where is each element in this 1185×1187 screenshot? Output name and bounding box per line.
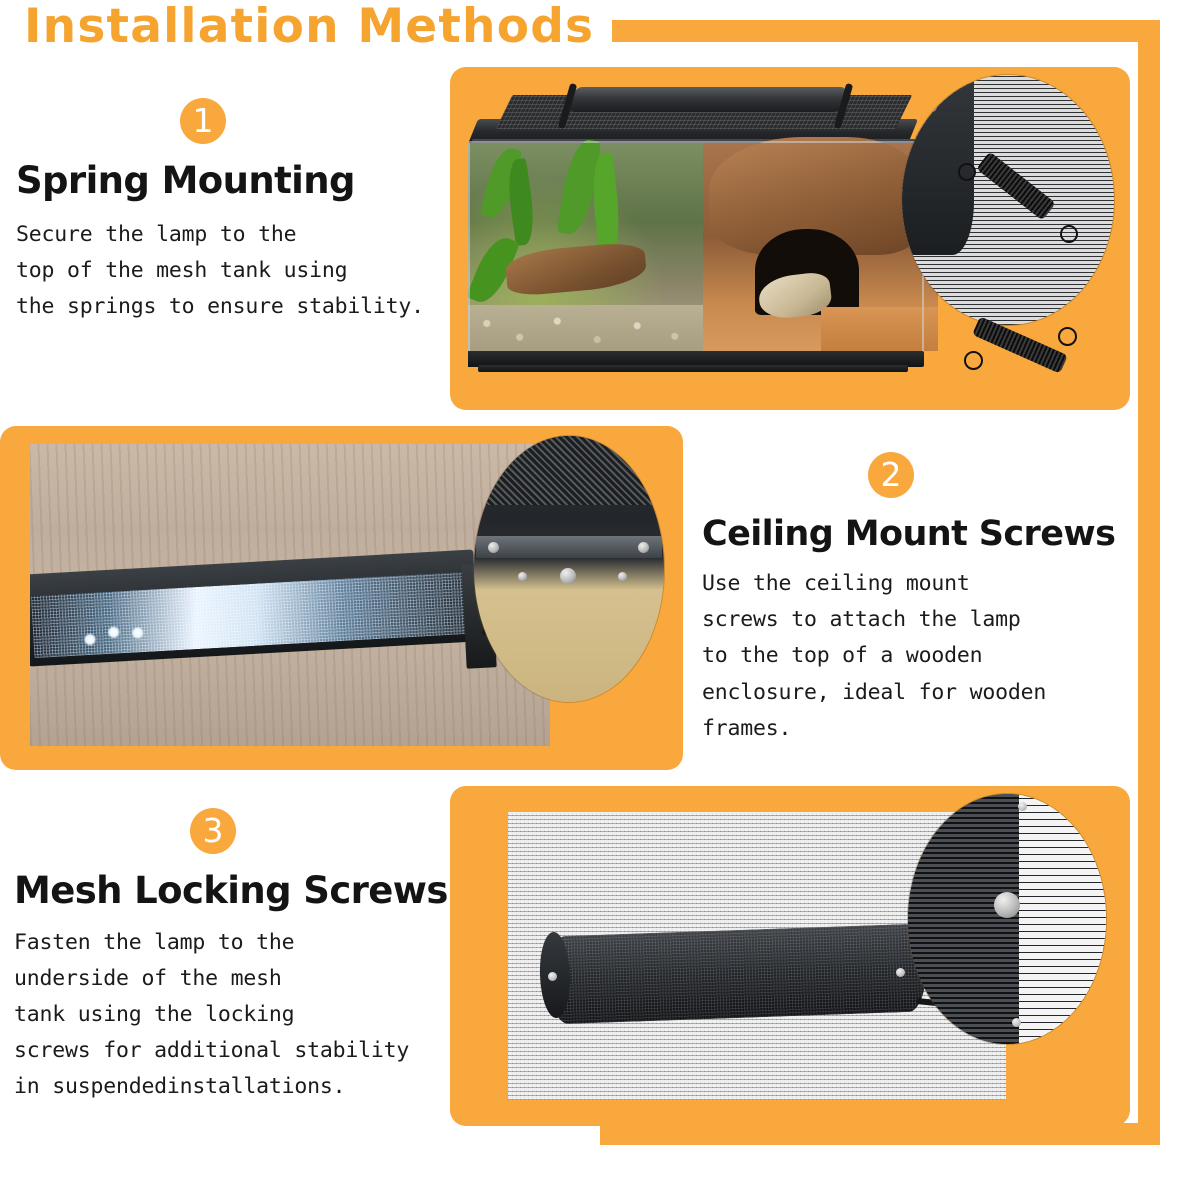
spring-body <box>972 316 1068 373</box>
frame-border-top <box>612 20 1160 42</box>
callout-rivet-top <box>1018 802 1027 811</box>
step-2-body-line: frames. <box>702 711 1140 747</box>
step-1-heading: Spring Mounting <box>16 160 452 203</box>
spring-hook-lower <box>1060 225 1078 243</box>
step-3-body-line: tank using the locking <box>14 997 460 1033</box>
mesh-dark-region <box>908 794 1019 1044</box>
ceiling-mount-screw-tertiary <box>618 572 627 581</box>
panel-ceiling-mount <box>0 426 683 770</box>
step-2-body-line: screws to attach the lamp <box>702 602 1140 638</box>
ceiling-mount-photo <box>30 444 550 746</box>
spring-hook-bottom <box>964 351 983 370</box>
terrarium-body <box>468 81 938 393</box>
page-title: Installation Methods <box>24 2 594 51</box>
step-2-body-line: to the top of a wooden <box>702 638 1140 674</box>
panel-mesh-locking <box>450 786 1130 1126</box>
step-3-heading: Mesh Locking Screws <box>14 870 460 913</box>
spring-mesh-callout <box>902 75 1114 325</box>
spring-in-callout <box>976 151 1056 220</box>
step-1-body-line: top of the mesh tank using <box>16 253 452 289</box>
loose-spring <box>962 329 1082 363</box>
mesh-screw-head <box>926 101 937 112</box>
panel-spring-mounting <box>450 67 1130 410</box>
step-3-body-line: underside of the mesh <box>14 961 460 997</box>
terrarium-photo <box>468 81 938 393</box>
step-2-text-block: 2 Ceiling Mount Screws Use the ceiling m… <box>700 452 1140 747</box>
bracket-screw-right <box>638 542 649 553</box>
step-3-body-line: screws for additional stability <box>14 1033 460 1069</box>
step-1-number-badge: 1 <box>180 98 226 144</box>
locking-screw-right <box>896 968 905 977</box>
step-1-body-line: the springs to ensure stability. <box>16 289 452 325</box>
step-3-body: Fasten the lamp to the underside of the … <box>14 925 460 1106</box>
mounting-bracket <box>476 536 662 558</box>
step-3-body-line: Fasten the lamp to the <box>14 925 460 961</box>
step-3-text-block: 3 Mesh Locking Screws Fasten the lamp to… <box>10 808 460 1105</box>
step-3-body-line: in suspendedinstallations. <box>14 1069 460 1105</box>
step-2-body-line: enclosure, ideal for wooden <box>702 675 1140 711</box>
ceiling-mount-screw-secondary <box>518 572 527 581</box>
locking-screw-left <box>548 972 557 981</box>
locking-screw-head <box>994 892 1020 918</box>
step-3-number-badge: 3 <box>190 808 236 854</box>
step-1-body-line: Secure the lamp to the <box>16 217 452 253</box>
frame-border-right <box>1138 20 1160 1145</box>
glass-panel-edge <box>468 141 924 357</box>
tank-base-foot <box>478 365 908 372</box>
step-2-number-badge: 2 <box>868 452 914 498</box>
ceiling-screw-callout <box>474 436 664 702</box>
spring-hook-top <box>1058 327 1077 346</box>
frame-border-bottom <box>600 1123 1160 1145</box>
mesh-light-region <box>1019 794 1106 1044</box>
step-2-heading: Ceiling Mount Screws <box>702 514 1140 554</box>
led-lamp-bar <box>568 87 847 112</box>
lamp-led-face <box>31 572 466 658</box>
step-1-text-block: 1 Spring Mounting Secure the lamp to the… <box>12 98 452 325</box>
step-1-body: Secure the lamp to the top of the mesh t… <box>16 217 452 325</box>
bracket-screw-left <box>488 542 499 553</box>
infographic-page: Installation Methods 1 Spring Mounting S… <box>0 0 1185 1187</box>
callout-rivet-bottom <box>1012 1018 1021 1027</box>
ceiling-mount-screw <box>560 568 576 584</box>
locking-screw-callout <box>908 794 1106 1044</box>
step-2-body-line: Use the ceiling mount <box>702 566 1140 602</box>
spring-hook-upper <box>958 163 976 181</box>
led-lamp-bar-on-mesh <box>547 923 928 1024</box>
mesh-texture-top <box>474 436 664 505</box>
step-2-body: Use the ceiling mount screws to attach t… <box>702 566 1140 747</box>
